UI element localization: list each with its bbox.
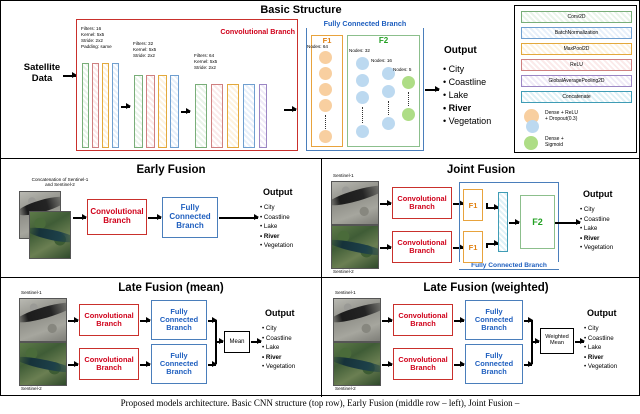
conv-block-1-note: Filters: 16 Kernel: 5x5 Stride: 2x2 Padd… (81, 26, 112, 50)
f2-label: F2 (347, 36, 420, 45)
satellite-image-sentinel2 (29, 211, 71, 259)
layer-batchnorm (170, 75, 179, 148)
layer-maxpool2d (102, 63, 109, 148)
concatenate-bar (498, 192, 508, 252)
joint-f1-box-1: F1 (463, 189, 483, 221)
conv-block-2-note: Filters: 32 Kernel: 5x5 Stride: 2x2 (133, 41, 156, 59)
output-class: Coastline (262, 334, 295, 344)
arrow-conv-to-fc (284, 109, 296, 111)
arrow-input1-to-conv1 (380, 203, 391, 205)
arrow-fc-to-output (219, 217, 258, 219)
arrow-merge-to-weighted-box (531, 341, 539, 343)
basic-structure-title: Basic Structure (211, 4, 391, 16)
layer-relu (146, 75, 155, 148)
arrow-merge-to-mean-box (215, 341, 223, 343)
joint-input1-caption: Sentinel-1 (333, 173, 354, 178)
node-f3 (382, 117, 395, 130)
legend-item-globalaveragepooling2d: GlobalAveragePooling2D (521, 75, 632, 87)
early-input-caption: Concatenation of Sentinel-1 and Sentinel… (15, 177, 105, 187)
arrow-input-to-conv (73, 217, 86, 219)
node-f2 (356, 125, 369, 138)
output-class: Lake (262, 343, 295, 353)
late-weighted-output-title: Output (587, 308, 617, 318)
late-mean-input1-caption: Sentinel-1 (21, 290, 42, 295)
legend-item-maxpool2d: MaxPool2D (521, 43, 632, 55)
figure-container: Basic Structure Satellite Data Convoluti… (0, 0, 640, 396)
output-title: Output (444, 45, 477, 56)
late-mean-output-title: Output (265, 308, 295, 318)
layer-relu (92, 63, 99, 148)
late-mean-output-class-list: City Coastline Lake River Vegetation (262, 324, 295, 372)
layer-conv2d (134, 75, 143, 148)
legend-dot-dense-sigmoid (524, 136, 538, 150)
mean-box: Mean (224, 331, 250, 353)
node-output (402, 76, 415, 89)
late-weighted-title: Late Fusion (weighted) (371, 282, 601, 294)
joint-conv-branch-box-2: Convolutional Branch (392, 231, 452, 263)
output-class: City (262, 324, 295, 334)
satellite-image-sentinel1 (333, 298, 381, 342)
legend-item-conv2d: Conv2D (521, 11, 632, 23)
arrow-input2-to-conv2 (68, 364, 78, 366)
output-class: River (580, 234, 613, 244)
legend-dot-dropout (526, 120, 539, 133)
conv-branch-label: Convolutional Branch (179, 27, 295, 36)
ellipsis-dots (362, 107, 363, 123)
panel-basic-structure: Basic Structure Satellite Data Convoluti… (1, 1, 640, 158)
node-f1 (319, 99, 332, 112)
late-mean-fc-box-2: Fully Connected Branch (151, 344, 207, 384)
node-f1 (319, 51, 332, 64)
panel-late-fusion-mean: Late Fusion (mean) Sentinel-1 Sentinel-2… (1, 277, 321, 397)
node-f3 (382, 85, 395, 98)
arrow-conv1-to-fc1 (140, 320, 150, 322)
satellite-data-label: Satellite Data (7, 63, 77, 85)
arrow-mean-to-output (251, 341, 261, 343)
output-class: River (443, 102, 491, 115)
arrow-input2-to-conv2 (380, 247, 391, 249)
joint-output-title: Output (583, 189, 613, 199)
layer-conv2d (82, 63, 89, 148)
late-mean-fc-box-1: Fully Connected Branch (151, 300, 207, 340)
satellite-image-sentinel1 (19, 298, 67, 342)
arrow-block2-to-block3 (181, 111, 190, 113)
output-class: River (262, 353, 295, 363)
early-output-title: Output (263, 187, 293, 197)
ellipsis-dots (388, 101, 389, 115)
output-class: Lake (580, 224, 613, 234)
late-mean-conv-box-2: Convolutional Branch (79, 348, 139, 380)
layer-globalavgpool (259, 84, 267, 148)
output-class: Coastline (443, 76, 491, 89)
satellite-image-sentinel1 (331, 181, 379, 225)
merge-line-2 (215, 340, 217, 364)
f2-nodes-count: Nodes: 32 (349, 48, 370, 53)
output-class: River (584, 353, 617, 363)
arrow-input1-to-conv1 (68, 320, 78, 322)
arrow-block1-to-block2 (121, 106, 130, 108)
output-class: Vegetation (580, 243, 613, 253)
arrow-input2-to-conv2 (382, 364, 392, 366)
legend-label-dense-sigmoid: Dense + Sigmoid (545, 136, 564, 149)
satellite-image-sentinel2 (19, 342, 67, 386)
late-weighted-conv-box-1: Convolutional Branch (393, 304, 453, 336)
node-f1 (319, 83, 332, 96)
early-conv-branch-box: Convolutional Branch (87, 199, 147, 235)
arrow-fc-to-output (425, 89, 439, 91)
panel-early-fusion: Early Fusion Concatenation of Sentinel-1… (1, 158, 321, 277)
arrow-input-to-conv (63, 75, 76, 77)
output-class-list: City Coastline Lake River Vegetation (443, 63, 491, 128)
arrow-f1-to-concat-1 (486, 207, 498, 209)
output-class: Vegetation (584, 362, 617, 372)
arrow-fc1-to-mean (208, 320, 216, 322)
ellipsis-dots (408, 92, 409, 106)
late-mean-input2-caption: Sentinel-2 (21, 386, 42, 391)
panel-divider (321, 278, 322, 397)
joint-fusion-title: Joint Fusion (381, 164, 581, 176)
panel-late-fusion-weighted: Late Fusion (weighted) Sentinel-1 Sentin… (321, 277, 640, 397)
output-class: Vegetation (260, 241, 293, 251)
f1-nodes-count: Nodes: 64 (307, 44, 328, 49)
arrow-weighted-mean-to-output (575, 341, 584, 343)
node-f1 (319, 130, 332, 143)
arrow-fc2-to-mean (208, 364, 216, 366)
joint-f1-box-2: F1 (463, 231, 483, 263)
merge-line-2 (531, 340, 533, 364)
layer-maxpool2d (158, 75, 167, 148)
layer-conv2d (195, 84, 207, 148)
output-class: City (580, 205, 613, 215)
arrow-conv-to-fc (148, 217, 161, 219)
arrow-input1-to-conv1 (382, 320, 392, 322)
late-weighted-output-class-list: City Coastline Lake River Vegetation (584, 324, 617, 372)
layer-batchnorm (112, 63, 119, 148)
early-fusion-title: Early Fusion (61, 164, 281, 176)
output-class: City (260, 203, 293, 213)
late-weighted-input2-caption: Sentinel-2 (335, 386, 356, 391)
panel-joint-fusion: Joint Fusion Sentinel-1 Sentinel-2 Convo… (321, 158, 640, 277)
late-weighted-fc-box-2: Fully Connected Branch (465, 344, 523, 384)
arrow-conv1-to-fc1 (454, 320, 464, 322)
node-f2 (356, 57, 369, 70)
node-f2 (356, 74, 369, 87)
arrow-f1-to-concat-2 (486, 243, 498, 245)
late-weighted-input1-caption: Sentinel-1 (335, 290, 356, 295)
legend-box: Conv2D BatchNormalization MaxPool2D ReLU… (514, 5, 637, 153)
arrow-conv2-to-fc2 (454, 364, 464, 366)
node-output (402, 108, 415, 121)
joint-output-class-list: City Coastline Lake River Vegetation (580, 205, 613, 253)
arrow-fc1-to-weighted-mean (524, 320, 532, 322)
arrow-fc2-to-weighted-mean (524, 364, 532, 366)
figure-caption: Proposed models architecture. Basic CNN … (0, 398, 640, 408)
output-class: Lake (443, 89, 491, 102)
satellite-image-sentinel2 (333, 342, 381, 386)
node-f1 (319, 67, 332, 80)
output-class: Lake (584, 343, 617, 353)
late-mean-conv-box-1: Convolutional Branch (79, 304, 139, 336)
legend-item-batchnormalization: BatchNormalization (521, 27, 632, 39)
output-class: City (443, 63, 491, 76)
output-class: City (584, 324, 617, 334)
conv-block-3-note: Filters: 64 Kernel: 5x5 Stride: 2x2 (194, 53, 217, 71)
late-weighted-conv-box-2: Convolutional Branch (393, 348, 453, 380)
satellite-image-sentinel2 (331, 225, 379, 269)
output-class: Coastline (260, 213, 293, 223)
node-f2 (356, 91, 369, 104)
joint-conv-branch-box-1: Convolutional Branch (392, 187, 452, 219)
late-mean-title: Late Fusion (mean) (61, 282, 281, 294)
panel-divider (321, 159, 322, 277)
output-class: River (260, 232, 293, 242)
legend-label-dense-relu-dropout: Dense + ReLU + Dropout(0.3) (545, 110, 578, 123)
weighted-mean-box: Weighted Mean (540, 328, 574, 354)
output-class: Lake (260, 222, 293, 232)
early-output-class-list: City Coastline Lake River Vegetation (260, 203, 293, 251)
late-weighted-fc-box-1: Fully Connected Branch (465, 300, 523, 340)
output-class: Coastline (580, 215, 613, 225)
legend-item-relu: ReLU (521, 59, 632, 71)
f3-nodes-count: Nodes: 16 (371, 58, 392, 63)
ellipsis-dots (325, 115, 326, 129)
arrow-f2-to-output (555, 222, 580, 224)
arrow-conv2-to-fc2 (140, 364, 150, 366)
fc-branch-label: Fully Connected Branch (306, 19, 424, 28)
weighted-mean-label-line2: Mean (550, 341, 564, 347)
output-class: Vegetation (262, 362, 295, 372)
layer-relu (211, 84, 223, 148)
layer-maxpool2d (227, 84, 239, 148)
joint-f2-box: F2 (520, 195, 555, 249)
f4-nodes-count: Nodes: 5 (393, 67, 411, 72)
output-class: Vegetation (443, 115, 491, 128)
arrow-concat-to-f2 (509, 222, 519, 224)
early-fc-branch-box: Fully Connected Branch (162, 197, 218, 238)
joint-input2-caption: Sentinel-2 (333, 269, 354, 274)
legend-item-concatenate: Concatenate (521, 91, 632, 103)
layer-batchnorm (243, 84, 255, 148)
output-class: Coastline (584, 334, 617, 344)
joint-fc-branch-label: Fully Connected Branch (459, 262, 559, 269)
